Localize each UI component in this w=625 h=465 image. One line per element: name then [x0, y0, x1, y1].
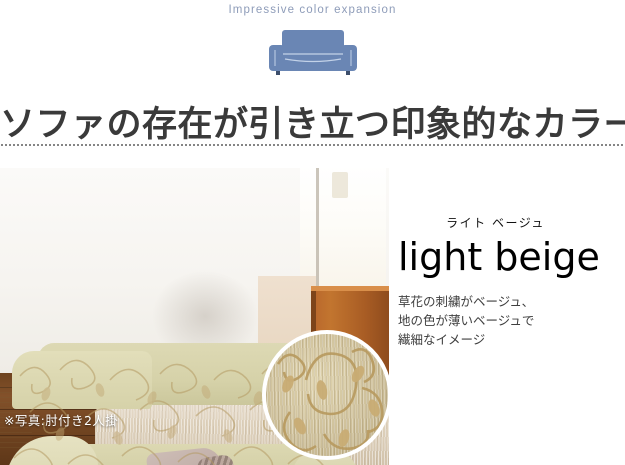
color-description-line-3: 繊細なイメージ: [398, 330, 608, 349]
window-frame-bar: [316, 168, 319, 286]
color-name-kana: ライト ベージュ: [398, 214, 593, 231]
window-frame-detail: [332, 172, 348, 198]
sofa-backrest-left: [12, 351, 152, 409]
sofa-icon: [0, 28, 625, 78]
color-description: 草花の刺繍がベージュ、 地の色が薄いベージュで 繊細なイメージ: [398, 292, 608, 349]
eyebrow-text: Impressive color expansion: [0, 4, 625, 16]
color-description-line-1: 草花の刺繍がベージュ、: [398, 292, 608, 311]
photo-caption: ※写真:肘付き2人掛: [4, 410, 118, 429]
page-title: ソファの存在が引き立つ印象的なカラー: [0, 103, 625, 147]
fabric-swatch-circle: [262, 330, 392, 460]
color-name-english: light beige: [398, 235, 620, 279]
page-header: Impressive color expansion ソファの存在が引き立つ印象…: [0, 0, 625, 146]
cabinet-top: [311, 286, 389, 291]
wall-shadow: [150, 268, 260, 348]
color-description-line-2: 地の色が薄いベージュで: [398, 311, 608, 330]
swatch-embroidery: [266, 334, 392, 460]
dotted-divider: [0, 144, 625, 146]
color-name-block: ライト ベージュ light beige: [398, 214, 620, 279]
